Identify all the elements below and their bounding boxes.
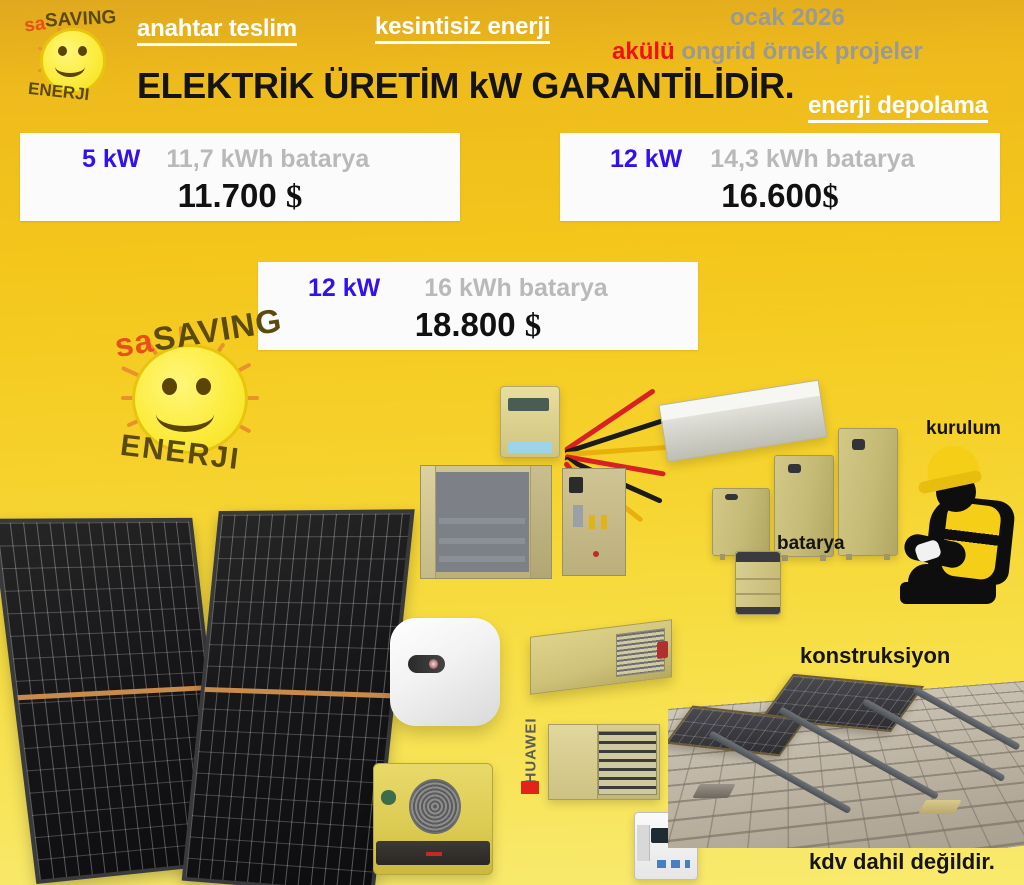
battery-badge-icon	[788, 464, 801, 473]
page-title: ELEKTRİK ÜRETİM kW GARANTİLİDİR.	[137, 65, 794, 107]
offer-spec-row: 12 kW16 kWh batarya	[258, 274, 748, 303]
subtitle-akulu: akülü	[612, 38, 675, 65]
caption-batarya: batarya	[777, 533, 845, 555]
huawei-flower-icon	[521, 774, 539, 794]
electrical-cabinet-closed	[562, 468, 626, 576]
duct-lid	[660, 381, 820, 420]
sun-smile-icon	[156, 396, 214, 432]
sun-eye-right-icon	[196, 378, 211, 395]
combiner-internals	[598, 731, 657, 795]
combiner-door	[549, 725, 598, 799]
poster-canvas: saSAVING ENERJI anahtar teslim kesintisi…	[0, 0, 1024, 885]
offer-price-value: 11.700	[178, 177, 277, 214]
meter-terminal-block	[508, 442, 552, 453]
roof-hook-1	[692, 784, 735, 798]
din-meter-buttons[interactable]	[657, 860, 689, 869]
offer-price-row: 18.800 $	[258, 306, 772, 345]
offer-currency: $	[525, 308, 542, 344]
caption-kurulum: kurulum	[926, 418, 1001, 440]
sun-eye-right-icon	[78, 46, 87, 56]
psu-connector	[657, 641, 668, 659]
sun-eye-left-icon	[58, 46, 67, 56]
battery-badge-icon	[725, 494, 737, 500]
string-inverter-white	[390, 618, 500, 726]
offer-card-12kw-16[interactable]: 12 kW16 kWh batarya 18.800 $	[258, 262, 698, 350]
battery-module-small	[712, 488, 770, 556]
offer-card-12kw-14[interactable]: 12 kW14,3 kWh batarya 16.600$	[560, 133, 1000, 221]
offer-power: 5 kW	[82, 145, 140, 173]
offer-card-5kw[interactable]: 5 kW11,7 kWh batarya 11.700 $	[20, 133, 460, 221]
inverter-indicator-icon	[408, 655, 445, 673]
brand-logo-large: saSAVING ENERJI	[88, 296, 288, 484]
tagline-enerji-depolama: enerji depolama	[808, 92, 988, 120]
sun-smile-icon	[55, 56, 85, 77]
offer-price-value: 16.600	[721, 177, 822, 214]
brand-logo-small: saSAVING ENERJI	[14, 6, 126, 110]
roof-mounting-construction	[668, 672, 1024, 848]
offer-currency: $	[286, 179, 303, 215]
offer-battery: 14,3 kWh batarya	[710, 145, 914, 173]
subtitle-line: akülü ongrid örnek projeler	[612, 38, 923, 66]
caption-kdv-notice: kdv dahil değildir.	[809, 849, 995, 875]
caption-konstruksiyon: konstruksiyon	[800, 643, 950, 669]
energy-meter-top	[500, 386, 560, 458]
offer-spec-row: 5 kW11,7 kWh batarya	[20, 145, 522, 174]
offer-spec-row: 12 kW14,3 kWh batarya	[560, 145, 1024, 174]
combiner-box	[548, 724, 660, 800]
hybrid-inverter-yellow	[373, 763, 493, 875]
cable-duct	[658, 380, 827, 463]
tagline-anahtar-teslim: anahtar teslim	[137, 15, 297, 43]
date-label: ocak 2026	[730, 4, 845, 32]
sun-eye-left-icon	[162, 378, 177, 395]
offer-currency: $	[822, 179, 839, 215]
huawei-brand-mark: HUAWEI	[519, 712, 541, 796]
offer-price-value: 18.800	[415, 306, 516, 343]
battery-stack-tower	[735, 551, 781, 615]
offer-price-row: 16.600$	[560, 177, 1024, 216]
offer-battery: 16 kWh batarya	[424, 274, 607, 302]
offer-power: 12 kW	[308, 274, 380, 302]
roof-hook-2	[918, 800, 961, 814]
battery-badge-icon	[852, 439, 865, 450]
tagline-kesintisiz-enerji: kesintisiz enerji	[375, 13, 550, 41]
inverter-brand-stripe	[426, 852, 443, 856]
meter-lcd	[508, 398, 549, 411]
electrical-cabinet-open	[420, 465, 552, 579]
offer-price-row: 11.700 $	[20, 177, 540, 216]
offer-battery: 11,7 kWh batarya	[166, 145, 369, 173]
worker-boot	[900, 582, 940, 604]
installer-worker-silhouette	[898, 446, 1024, 612]
subtitle-rest: ongrid örnek projeler	[675, 38, 923, 65]
offer-power: 12 kW	[610, 145, 682, 173]
battery-module-large	[838, 428, 898, 556]
power-supply-unit	[530, 619, 672, 694]
inverter-fan-icon	[409, 779, 460, 834]
